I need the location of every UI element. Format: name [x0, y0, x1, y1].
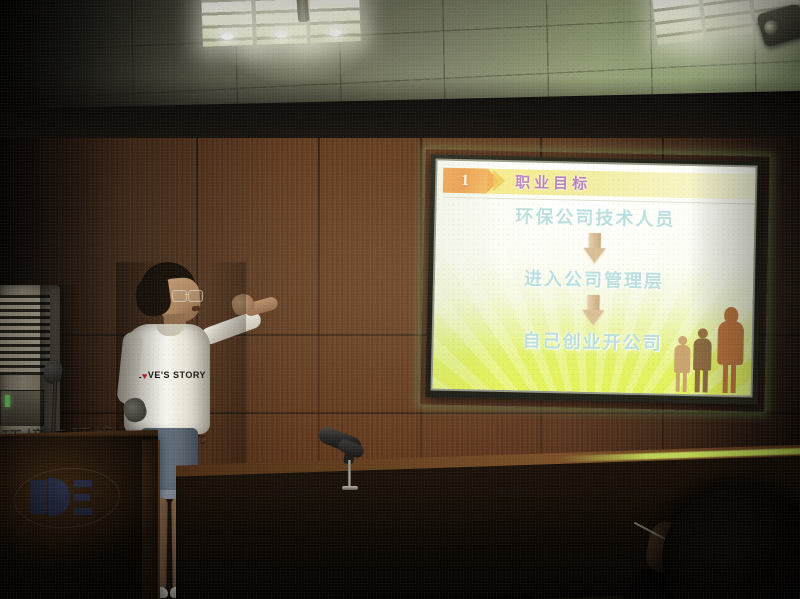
- ac-cast-shadow: [40, 285, 80, 437]
- business-people-silhouette: [673, 300, 749, 394]
- light-louvers: [701, 0, 753, 39]
- glasses-icon: [172, 290, 202, 301]
- slide-step-badge: 1: [443, 168, 488, 194]
- arrow-head: [583, 248, 605, 263]
- microphone-stem: [348, 460, 351, 488]
- silhouette-person: [692, 328, 713, 392]
- arrow-shaft: [589, 233, 601, 249]
- down-arrow-icon: [583, 233, 606, 263]
- heart-icon: ♥: [142, 371, 148, 381]
- projector-lens-icon: [763, 18, 782, 37]
- screen-surface: 1 职业目标 环保公司技术人员 进入公司管理层 自己创业开公司: [433, 161, 756, 396]
- ac-power-led: [5, 395, 10, 407]
- silhouette-head: [698, 328, 708, 338]
- emblem-shape: [74, 508, 92, 515]
- emblem-shape: [74, 480, 92, 487]
- glasses-lens: [172, 290, 187, 302]
- slide-title: 职业目标: [515, 170, 592, 196]
- lecture-hall-photo: 环境与环境科学学院 1 职业目标 环保公司技术人员 进入公司管理层: [0, 0, 800, 599]
- ceiling-pipe: [296, 0, 309, 22]
- podium-right-side: [142, 440, 160, 599]
- ceiling-light-left: [201, 0, 363, 47]
- down-arrow-icon: [582, 295, 605, 325]
- microphone-base: [342, 486, 358, 490]
- tshirt-text-suffix: VE'S STORY: [148, 370, 206, 380]
- silhouette-person: [715, 307, 747, 394]
- silhouette-leg: [731, 364, 737, 393]
- light-pane: [309, 0, 361, 43]
- projection-screen: 1 职业目标 环保公司技术人员 进入公司管理层 自己创业开公司: [425, 154, 762, 404]
- slide-step-2: 进入公司管理层: [435, 263, 753, 296]
- light-pane: [651, 0, 703, 45]
- emblem-shape: [48, 478, 70, 516]
- silhouette-head: [678, 336, 687, 345]
- silhouette-leg: [723, 364, 729, 393]
- light-louvers: [651, 0, 703, 45]
- university-emblem: [30, 478, 92, 516]
- glasses-lens: [188, 290, 203, 302]
- presenter-hair-front: [133, 274, 172, 318]
- silhouette-body: [693, 338, 712, 370]
- silhouette-leg: [683, 372, 687, 392]
- arrow-head: [582, 310, 604, 325]
- light-pane: [701, 0, 753, 39]
- light-louvers: [309, 0, 361, 43]
- silhouette-leg: [703, 369, 709, 392]
- slide-step-1: 环保公司技术人员: [436, 201, 754, 234]
- silhouette-body: [674, 345, 691, 373]
- emblem-shape: [30, 480, 46, 514]
- emblem-shape: [74, 494, 90, 501]
- silhouette-leg: [695, 369, 701, 392]
- glasses-bridge: [185, 294, 189, 295]
- silhouette-body: [717, 321, 744, 366]
- silhouette-leg: [676, 372, 680, 392]
- table-microphone: [316, 432, 376, 492]
- chevron-right-icon: [493, 169, 508, 194]
- tshirt-graphic-text: L♥VE'S STORY: [136, 370, 200, 380]
- silhouette-person: [673, 336, 692, 392]
- arrow-shaft: [587, 295, 599, 311]
